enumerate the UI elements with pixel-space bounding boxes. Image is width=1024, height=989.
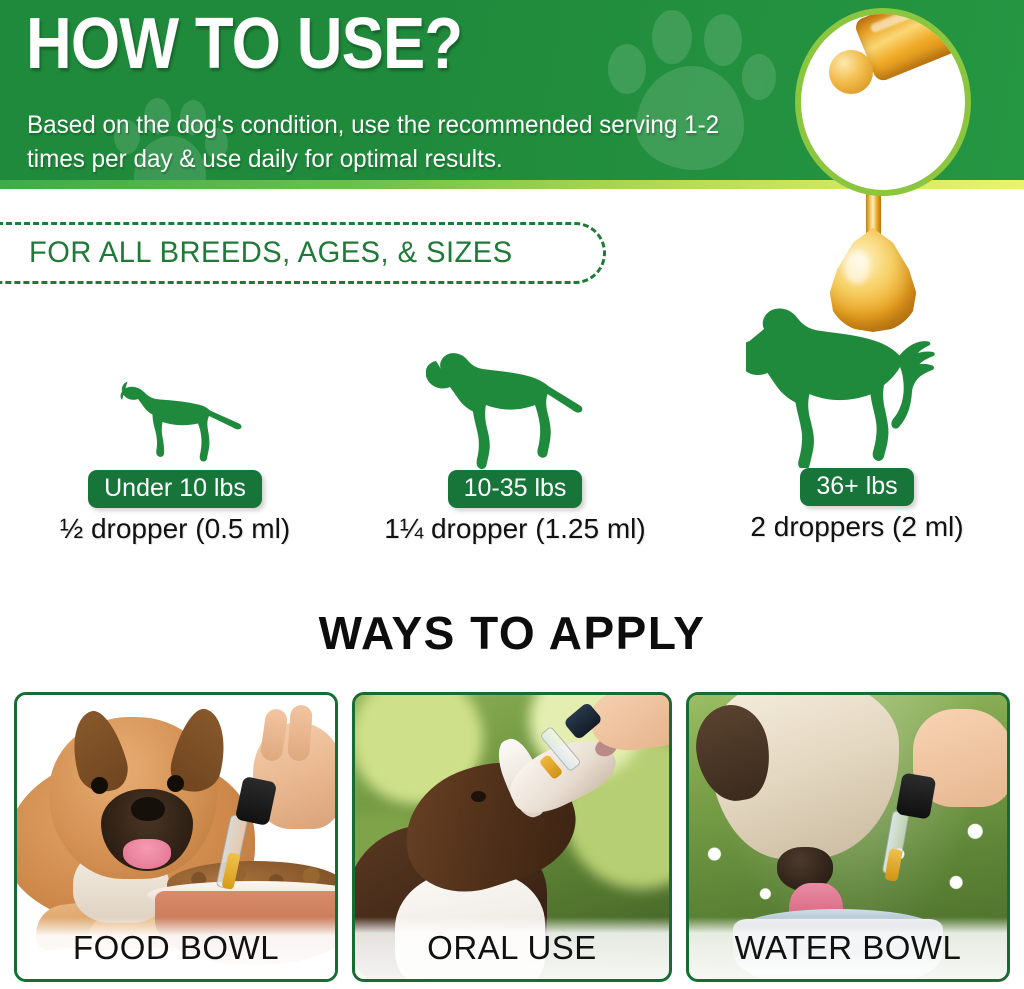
header-subtitle: Based on the dog's condition, use the re… bbox=[27, 108, 745, 176]
page-title: HOW TO USE? bbox=[26, 8, 462, 80]
infographic-page: HOW TO USE? Based on the dog's condition… bbox=[0, 0, 1024, 989]
dosage-tier: 36+ lbs 2 droppers (2 ml) bbox=[690, 302, 1024, 543]
breeds-banner-label: FOR ALL BREEDS, AGES, & SIZES bbox=[29, 236, 513, 270]
ways-to-apply-cards: FOOD BOWL ORAL USE bbox=[0, 692, 1024, 989]
weight-badge: 36+ lbs bbox=[800, 468, 913, 506]
card-label: WATER BOWL bbox=[689, 917, 1007, 979]
breeds-banner: FOR ALL BREEDS, AGES, & SIZES bbox=[0, 222, 606, 284]
card-label: FOOD BOWL bbox=[17, 917, 335, 979]
card-label: ORAL USE bbox=[355, 917, 669, 979]
apply-card-food-bowl[interactable]: FOOD BOWL bbox=[14, 692, 338, 982]
dose-label: ½ dropper (0.5 ml) bbox=[10, 513, 340, 545]
ways-to-apply-title: WAYS TO APPLY bbox=[0, 606, 1024, 660]
apply-card-oral-use[interactable]: ORAL USE bbox=[352, 692, 672, 982]
dose-label: 2 droppers (2 ml) bbox=[690, 511, 1024, 543]
medium-dog-silhouette bbox=[426, 346, 604, 470]
dose-label: 1¼ dropper (1.25 ml) bbox=[345, 513, 685, 545]
weight-badge: Under 10 lbs bbox=[88, 470, 262, 508]
dosage-tier: 10-35 lbs 1¼ dropper (1.25 ml) bbox=[345, 346, 685, 545]
oil-dropper-icon bbox=[795, 8, 971, 196]
oil-drop-graphic bbox=[828, 228, 918, 332]
dosage-tier-group: Under 10 lbs ½ dropper (0.5 ml) 10-35 lb… bbox=[0, 300, 1024, 570]
weight-badge: 10-35 lbs bbox=[448, 470, 583, 508]
apply-card-water-bowl[interactable]: WATER BOWL bbox=[686, 692, 1010, 982]
small-dog-silhouette bbox=[100, 378, 250, 470]
dosage-tier: Under 10 lbs ½ dropper (0.5 ml) bbox=[10, 378, 340, 545]
